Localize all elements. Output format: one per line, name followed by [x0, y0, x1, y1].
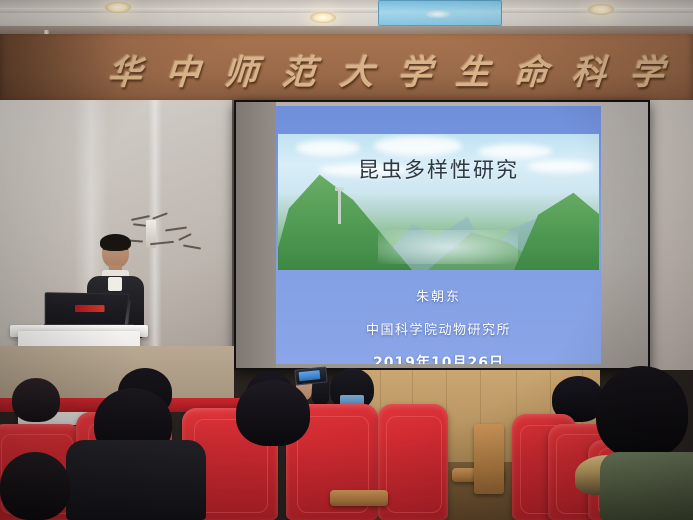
seat-armrest: [330, 490, 388, 506]
seat-armrest: [474, 424, 504, 494]
lecture-hall-photo: 华 中 师 范 大 学 生 命 科 学: [0, 0, 693, 520]
audience-head-foreground: [596, 366, 688, 458]
audience-shoulders: [66, 440, 206, 520]
recessed-downlight: [588, 4, 614, 15]
audience-head: [12, 378, 60, 422]
recessed-downlight: [310, 12, 336, 23]
wall-char: 范: [280, 45, 321, 94]
auditorium-seat[interactable]: [378, 404, 448, 520]
presentation-slide: 昆虫多样性研究 朱朝东 中国科学院动物研究所 2019年10月26日: [276, 106, 601, 364]
slide-presenter-name: 朱朝东: [276, 286, 601, 305]
ceiling: [0, 0, 693, 34]
laptop-logo-icon: [75, 305, 105, 312]
valley-mist: [378, 230, 518, 264]
audience-head-foreground: [236, 380, 310, 446]
projection-screen: 昆虫多样性研究 朱朝东 中国科学院动物研究所 2019年10月26日: [234, 100, 650, 370]
wall-char: 学: [628, 45, 669, 94]
recessed-downlight: [105, 2, 131, 13]
wall-shadow: [0, 34, 120, 106]
cloud: [374, 136, 462, 156]
wall-char: 学: [396, 45, 437, 94]
whiteboard-handwriting: [165, 226, 187, 231]
whiteboard-handwriting: [133, 223, 146, 226]
whiteboard-handwriting: [178, 233, 191, 241]
wall-char: 华: [108, 45, 148, 94]
audience-shoulders: [600, 452, 693, 520]
transmission-tower-icon: [338, 190, 341, 224]
slide-date: 2019年10月26日: [276, 352, 601, 364]
audience-head-foreground: [0, 452, 70, 520]
presenter-shirt: [108, 277, 122, 291]
whiteboard-handwriting: [183, 244, 201, 249]
wall-char: 中: [164, 45, 205, 94]
smartphone-icon[interactable]: [294, 366, 327, 385]
wall-char: 师: [222, 45, 263, 94]
projector-lens-icon: [425, 10, 451, 18]
wall-char: 大: [338, 45, 379, 94]
ceiling-projector-icon: [378, 0, 502, 26]
wall-char: 生: [454, 45, 495, 94]
slide-affiliation: 中国科学院动物研究所: [276, 319, 601, 338]
phone-screen: [299, 370, 321, 381]
wall-char: 命: [512, 45, 553, 94]
glasses-icon: [103, 249, 128, 255]
slide-title: 昆虫多样性研究: [276, 154, 601, 184]
wall-char: 科: [570, 45, 611, 94]
slide-credits: 朱朝东 中国科学院动物研究所 2019年10月26日: [276, 286, 601, 364]
venue-name-calligraphy: 华 中 师 范 大 学 生 命 科 学: [108, 38, 693, 100]
unlit-screen-area: [236, 102, 276, 368]
screen-surface: 昆虫多样性研究 朱朝东 中国科学院动物研究所 2019年10月26日: [236, 102, 648, 368]
